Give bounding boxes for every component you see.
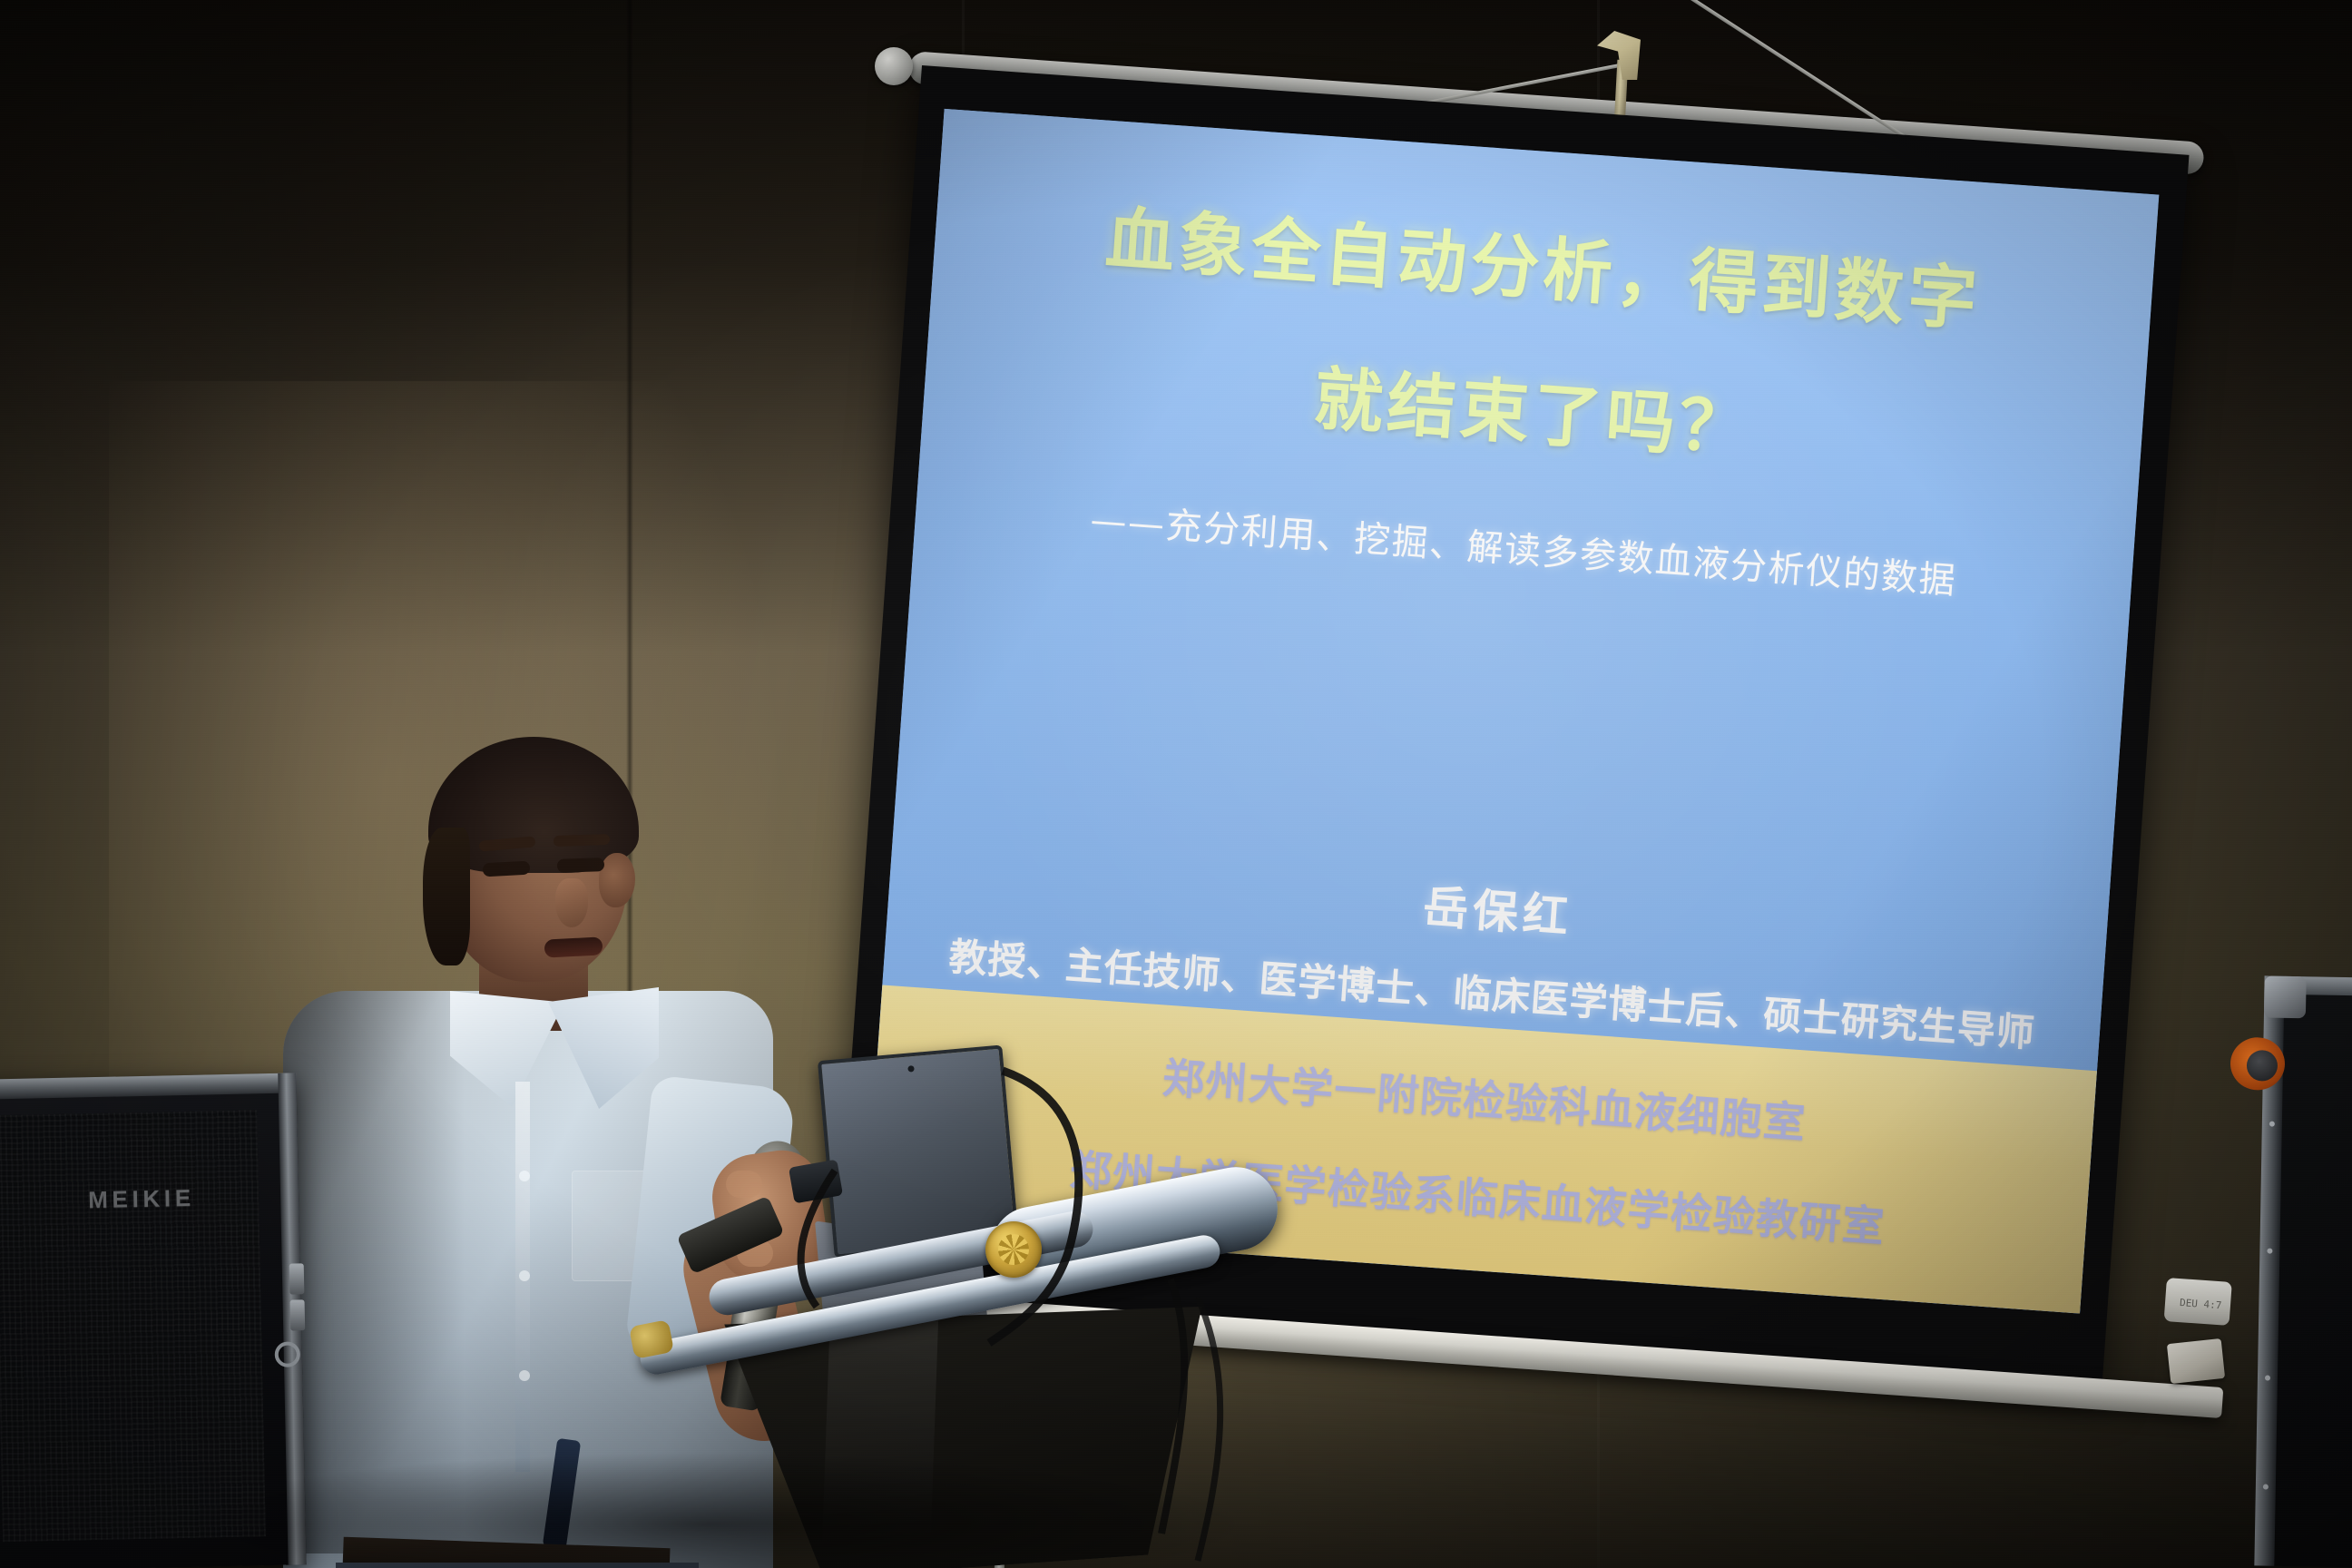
slide-title-line-1: 血象全自动分析，得到数字 [934,191,2153,348]
presenter-knuckle-1 [726,1171,762,1198]
screen-black-border: 血象全自动分析，得到数字 就结束了吗？ ——充分利用、挖掘、解读多参数血液分析仪… [835,65,2190,1386]
screen-weight-bar-end-cap: DEU 4:7 [2164,1278,2232,1326]
right-road-case [2254,975,2352,1568]
presenter-mouth [544,936,603,957]
right-case-rivet-4 [2263,1484,2269,1489]
slide-content: 血象全自动分析，得到数字 就结束了吗？ ——充分利用、挖掘、解读多参数血液分析仪… [865,109,2159,1314]
slide-title-line-2: 就结束了吗？ [923,335,2142,493]
presenter-eye-right [557,857,604,873]
presenter-ear [599,853,635,907]
presenter-shirt-button-3 [519,1370,530,1381]
slide-subtitle: ——充分利用、挖掘、解读多参数血液分析仪的数据 [915,478,2133,617]
presentation-photo-scene: 血象全自动分析，得到数字 就结束了吗？ ——充分利用、挖掘、解读多参数血液分析仪… [0,0,2352,1568]
presenter-hair-side [423,828,470,965]
right-case-rivet-3 [2265,1376,2270,1381]
right-case-rivet-2 [2267,1249,2272,1254]
case-latch-lower [290,1299,306,1330]
slide: 血象全自动分析，得到数字 就结束了吗？ ——充分利用、挖掘、解读多参数血液分析仪… [865,109,2159,1314]
screen-roller-end-cap [875,47,913,85]
floor-shadow [163,1452,1252,1568]
case-latch-upper [289,1263,305,1294]
presenter-nose [555,878,588,927]
wall-outlet-box [2167,1338,2225,1384]
presenter-eye-left [483,861,531,877]
presenter-shirt-button-2 [519,1270,530,1281]
presenter-eyebrow-right [554,834,610,847]
presenter-shirt-button-1 [519,1171,530,1181]
screen-projection-surface: 血象全自动分析，得到数字 就结束了吗？ ——充分利用、挖掘、解读多参数血液分析仪… [865,109,2159,1314]
right-case-corner-bracket [2264,975,2307,1018]
tablet-camera-icon [907,1065,915,1073]
screen-end-cap-mark: DEU 4:7 [2180,1297,2222,1311]
speaker-brand-label: MEIKIE [88,1184,195,1214]
